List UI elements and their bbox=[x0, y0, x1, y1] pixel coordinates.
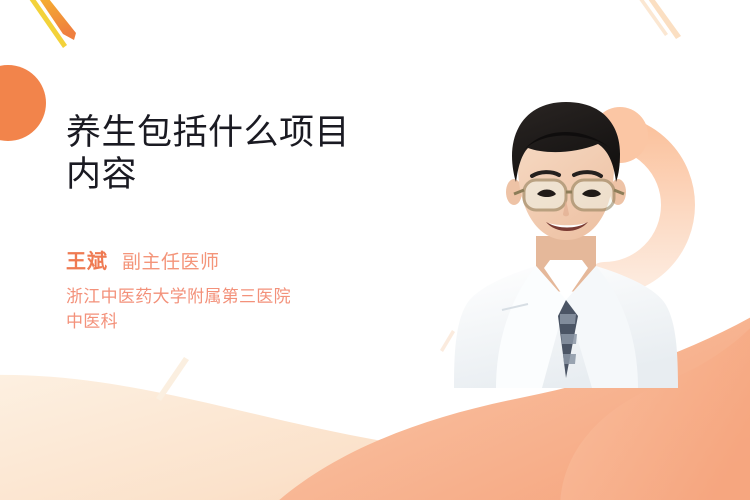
slash-yellow bbox=[29, 0, 67, 48]
doctor-portrait-illustration bbox=[432, 88, 702, 388]
doctor-info-block: 王斌 副主任医师 浙江中医药大学附属第三医院 中医科 bbox=[66, 245, 291, 334]
headline-block: 养生包括什么项目 内容 bbox=[66, 112, 436, 196]
slash-faint-top-right-a bbox=[638, 0, 668, 36]
slash-faint-bottom-left bbox=[156, 357, 189, 401]
slash-faint-top-right-b bbox=[648, 0, 681, 39]
slash-orange bbox=[38, 0, 76, 40]
doctor-portrait bbox=[432, 88, 702, 388]
doctor-name-row: 王斌 副主任医师 bbox=[66, 245, 291, 274]
doctor-affiliation: 浙江中医药大学附属第三医院 中医科 bbox=[66, 284, 291, 334]
health-article-cover-card: 养生包括什么项目 内容 王斌 副主任医师 浙江中医药大学附属第三医院 中医科 bbox=[0, 0, 750, 500]
doctor-title: 副主任医师 bbox=[122, 247, 220, 274]
doctor-name: 王斌 bbox=[66, 245, 108, 274]
orange-circle bbox=[0, 65, 46, 141]
wave-cream bbox=[0, 375, 750, 500]
page-title: 养生包括什么项目 内容 bbox=[66, 112, 436, 196]
